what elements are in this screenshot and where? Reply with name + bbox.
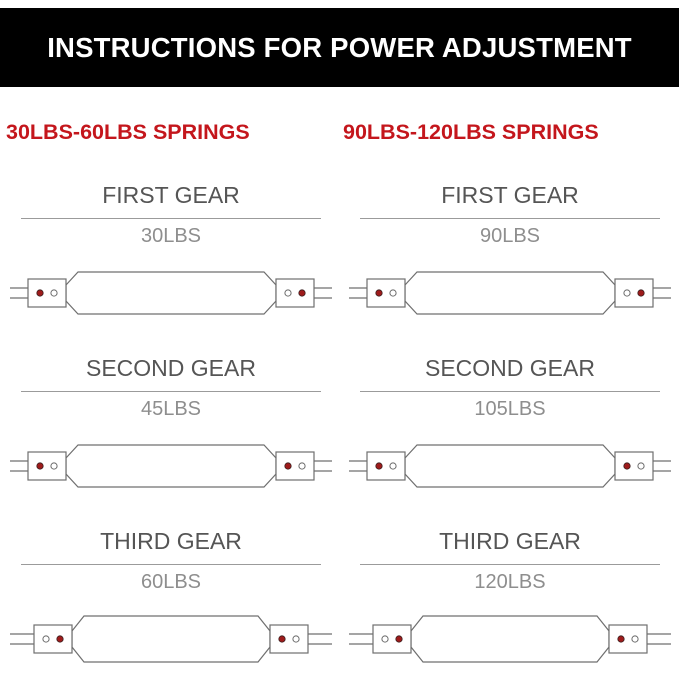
- spring-barrel: [72, 616, 270, 662]
- collar-right-a-hollow-dot: [624, 290, 630, 296]
- spring-barrel: [66, 445, 276, 487]
- gear-cell-left-first: FIRST GEAR 30LBS: [8, 182, 334, 342]
- gear-cell-right-second: SECOND GEAR 105LBS: [347, 355, 673, 515]
- gear-title: THIRD GEAR: [8, 528, 334, 555]
- divider-line: [21, 391, 321, 392]
- collar-left-b-filled-dot: [396, 636, 402, 642]
- rod-right: [314, 288, 332, 298]
- collar-left: [373, 625, 411, 653]
- divider-line: [360, 218, 660, 219]
- collar-left-a-filled-dot: [376, 463, 382, 469]
- rod-right: [653, 461, 671, 471]
- collar-right: [615, 452, 653, 480]
- collar-right: [276, 279, 314, 307]
- collar-right-b-hollow-dot: [632, 636, 638, 642]
- collar-left-a-hollow-dot: [43, 636, 49, 642]
- gear-cell-right-first: FIRST GEAR 90LBS: [347, 182, 673, 342]
- rod-left: [349, 634, 373, 644]
- spring-barrel: [66, 272, 276, 314]
- collar-left: [28, 452, 66, 480]
- rod-left: [349, 288, 367, 298]
- gear-title: FIRST GEAR: [8, 182, 334, 209]
- collar-right: [270, 625, 308, 653]
- divider-line: [21, 564, 321, 565]
- rod-left: [10, 288, 28, 298]
- gear-title: FIRST GEAR: [347, 182, 673, 209]
- collar-left-b-filled-dot: [57, 636, 63, 642]
- collar-left-a-hollow-dot: [382, 636, 388, 642]
- rod-left: [349, 461, 367, 471]
- spring-range-heading-left: 30LBS-60LBS SPRINGS: [6, 120, 250, 145]
- divider-line: [360, 391, 660, 392]
- collar-right-a-filled-dot: [618, 636, 624, 642]
- spring-mechanism-diagram: [347, 429, 673, 503]
- rod-left: [10, 634, 34, 644]
- collar-left: [34, 625, 72, 653]
- gear-title: SECOND GEAR: [8, 355, 334, 382]
- collar-left: [367, 279, 405, 307]
- header-bar: INSTRUCTIONS FOR POWER ADJUSTMENT: [0, 8, 679, 87]
- gear-weight-label: 60LBS: [8, 571, 334, 594]
- spring-mechanism-diagram: [8, 256, 334, 330]
- gear-weight-label: 90LBS: [347, 225, 673, 248]
- collar-right-b-hollow-dot: [293, 636, 299, 642]
- spring-mechanism-diagram: [8, 602, 334, 676]
- gear-cell-left-second: SECOND GEAR 45LBS: [8, 355, 334, 515]
- spring-barrel: [405, 272, 615, 314]
- gear-weight-label: 105LBS: [347, 398, 673, 421]
- collar-right-a-filled-dot: [279, 636, 285, 642]
- collar-left: [367, 452, 405, 480]
- gear-weight-label: 120LBS: [347, 571, 673, 594]
- collar-right: [609, 625, 647, 653]
- gear-title: SECOND GEAR: [347, 355, 673, 382]
- gear-weight-label: 30LBS: [8, 225, 334, 248]
- collar-left-b-hollow-dot: [390, 290, 396, 296]
- collar-right-a-filled-dot: [624, 463, 630, 469]
- collar-left-b-hollow-dot: [390, 463, 396, 469]
- collar-left: [28, 279, 66, 307]
- spring-mechanism-diagram: [347, 602, 673, 676]
- gear-title: THIRD GEAR: [347, 528, 673, 555]
- collar-right-b-filled-dot: [638, 290, 644, 296]
- collar-left-a-filled-dot: [37, 463, 43, 469]
- collar-right-a-filled-dot: [285, 463, 291, 469]
- divider-line: [360, 564, 660, 565]
- collar-right-b-filled-dot: [299, 290, 305, 296]
- gear-weight-label: 45LBS: [8, 398, 334, 421]
- collar-right-b-hollow-dot: [638, 463, 644, 469]
- rod-right: [653, 288, 671, 298]
- divider-line: [21, 218, 321, 219]
- spring-mechanism-diagram: [347, 256, 673, 330]
- collar-left-b-hollow-dot: [51, 463, 57, 469]
- collar-left-b-hollow-dot: [51, 290, 57, 296]
- gear-cell-left-third: THIRD GEAR 60LBS: [8, 528, 334, 688]
- spring-mechanism-diagram: [8, 429, 334, 503]
- collar-right: [615, 279, 653, 307]
- rod-right: [308, 634, 332, 644]
- rod-right: [314, 461, 332, 471]
- collar-left-a-filled-dot: [376, 290, 382, 296]
- collar-right-b-hollow-dot: [299, 463, 305, 469]
- collar-left-a-filled-dot: [37, 290, 43, 296]
- collar-right-a-hollow-dot: [285, 290, 291, 296]
- spring-range-heading-right: 90LBS-120LBS SPRINGS: [343, 120, 599, 145]
- collar-right: [276, 452, 314, 480]
- rod-right: [647, 634, 671, 644]
- spring-barrel: [411, 616, 609, 662]
- gear-cell-right-third: THIRD GEAR 120LBS: [347, 528, 673, 688]
- spring-barrel: [405, 445, 615, 487]
- page-title: INSTRUCTIONS FOR POWER ADJUSTMENT: [47, 32, 632, 64]
- rod-left: [10, 461, 28, 471]
